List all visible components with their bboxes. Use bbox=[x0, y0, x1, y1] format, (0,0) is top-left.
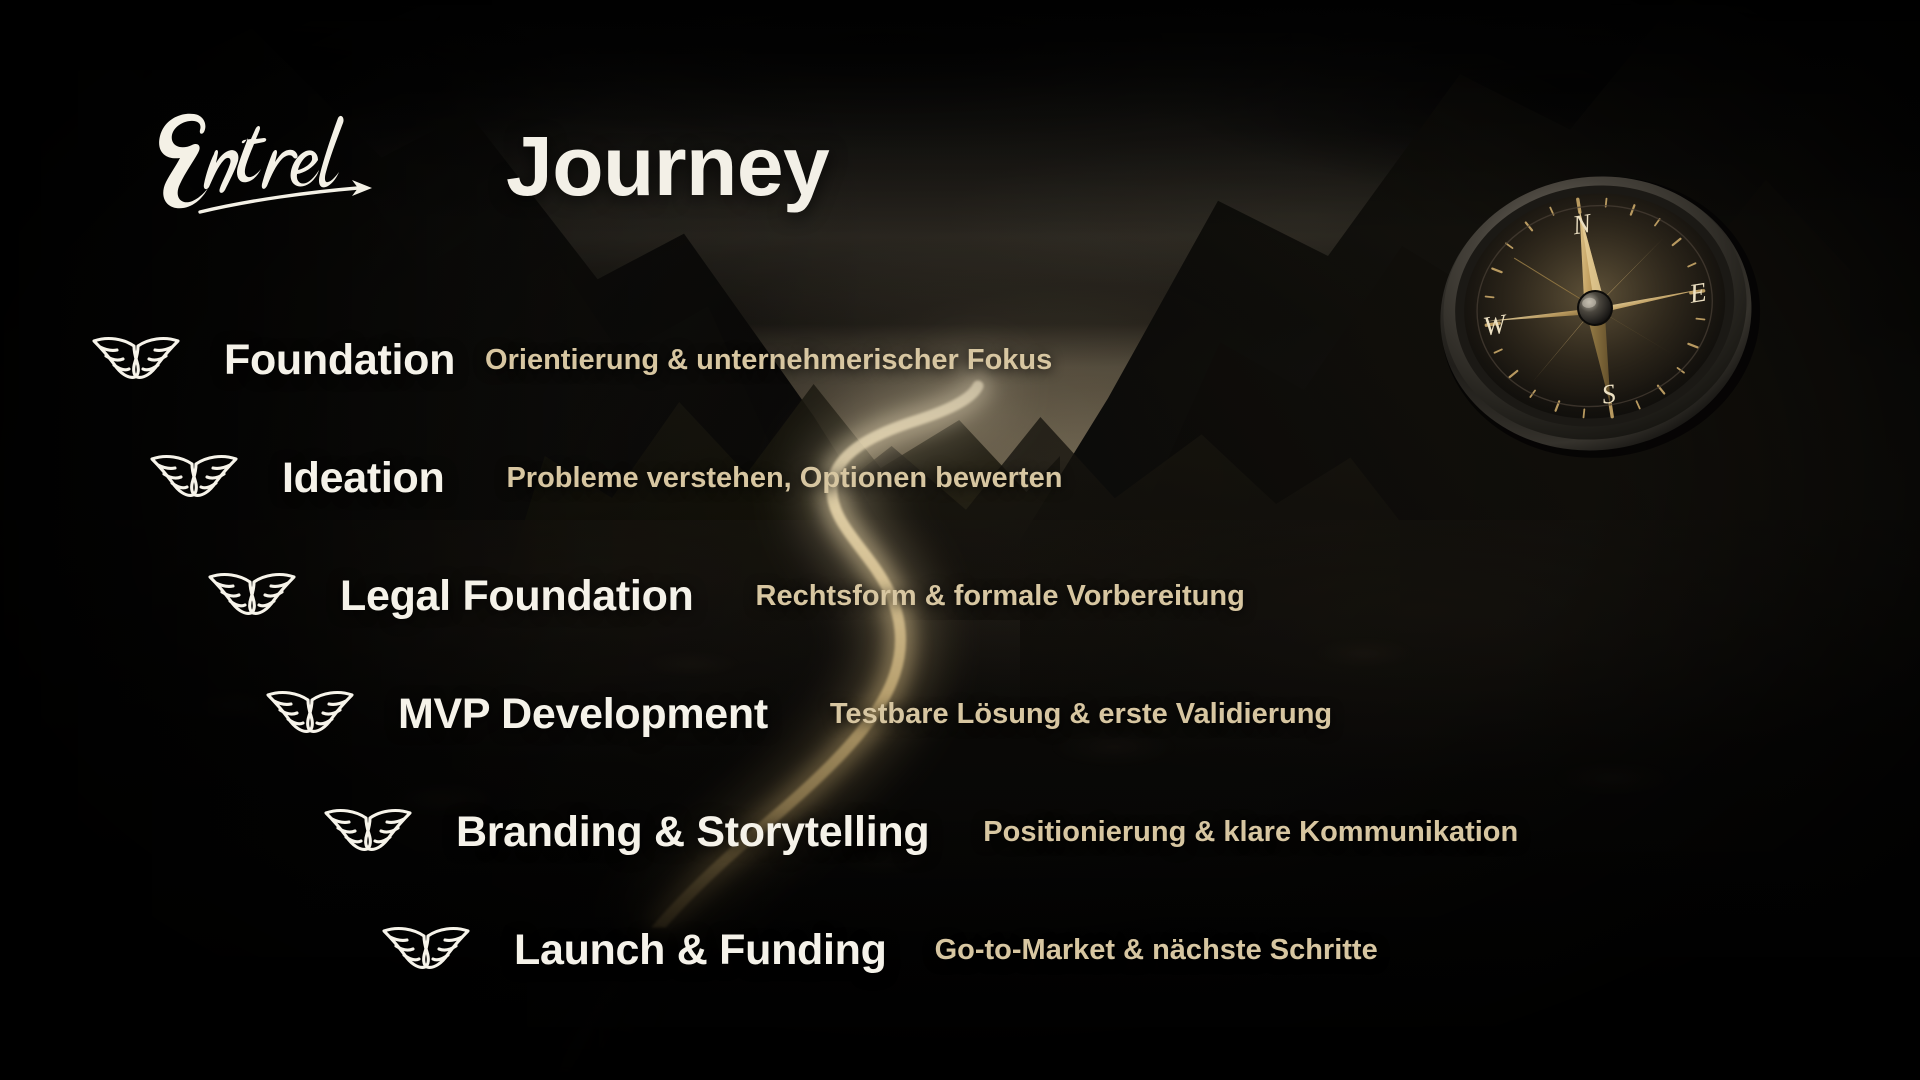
page-title: Journey bbox=[506, 124, 829, 208]
journey-step[interactable]: Branding & StorytellingPositionierung & … bbox=[0, 802, 1920, 862]
journey-step-subtitle: Orientierung & unternehmerischer Fokus bbox=[485, 344, 1052, 377]
journey-step-subtitle: Testbare Lösung & erste Validierung bbox=[830, 698, 1332, 731]
journey-step[interactable]: FoundationOrientierung & unternehmerisch… bbox=[0, 330, 1920, 390]
slide-canvas: Journey bbox=[0, 0, 1920, 1080]
journey-step-title: Foundation bbox=[224, 336, 455, 385]
wings-icon bbox=[372, 922, 480, 979]
journey-step-title: Ideation bbox=[282, 454, 444, 503]
slide-header: Journey bbox=[140, 96, 829, 226]
wings-icon bbox=[198, 568, 306, 625]
journey-step[interactable]: IdeationProbleme verstehen, Optionen bew… bbox=[0, 448, 1920, 508]
wings-icon bbox=[140, 450, 248, 507]
journey-step-subtitle: Go-to-Market & nächste Schritte bbox=[935, 934, 1378, 967]
wings-icon bbox=[314, 804, 422, 861]
wings-icon bbox=[256, 686, 364, 743]
journey-step-title: MVP Development bbox=[398, 690, 768, 739]
journey-step[interactable]: MVP DevelopmentTestbare Lösung & erste V… bbox=[0, 684, 1920, 744]
journey-step-title: Legal Foundation bbox=[340, 572, 694, 621]
journey-step-title: Branding & Storytelling bbox=[456, 808, 929, 857]
wings-icon bbox=[82, 332, 190, 389]
journey-step-subtitle: Probleme verstehen, Optionen bewerten bbox=[506, 462, 1062, 495]
journey-step[interactable]: Launch & FundingGo-to-Market & nächste S… bbox=[0, 920, 1920, 980]
journey-step-subtitle: Rechtsform & formale Vorbereitung bbox=[756, 580, 1245, 613]
journey-step-subtitle: Positionierung & klare Kommunikation bbox=[983, 816, 1518, 849]
journey-step-title: Launch & Funding bbox=[514, 926, 887, 975]
entrel-logo[interactable] bbox=[140, 96, 470, 226]
journey-step[interactable]: Legal FoundationRechtsform & formale Vor… bbox=[0, 566, 1920, 626]
journey-step-list: FoundationOrientierung & unternehmerisch… bbox=[0, 330, 1920, 1038]
